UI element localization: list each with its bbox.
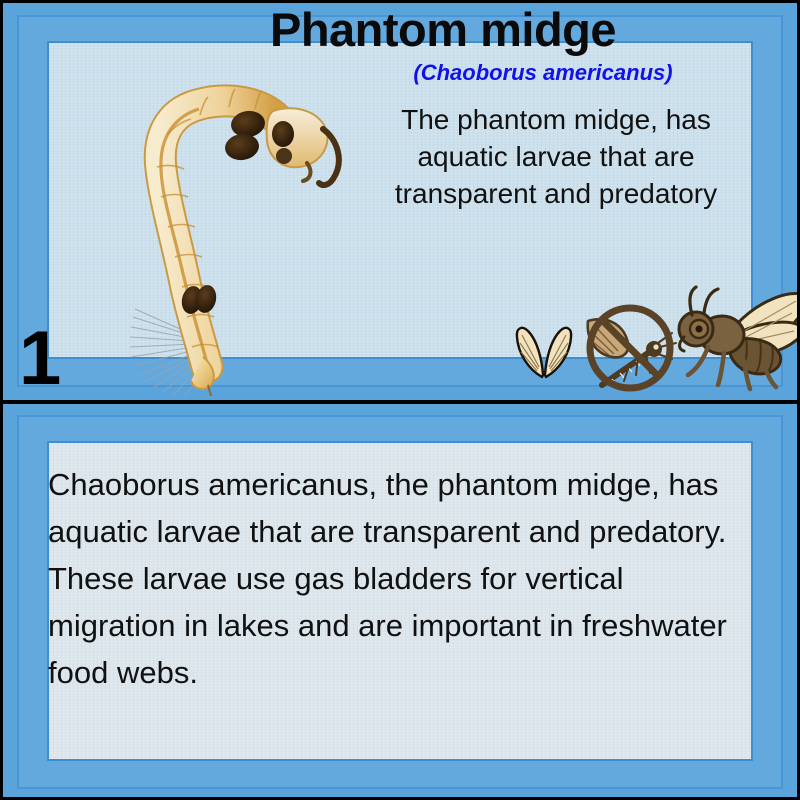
larva-eye — [272, 121, 294, 147]
top-panel: Phantom midge (Chaoborus americanus) The… — [3, 3, 797, 401]
larva-air-sac-anterior-2 — [223, 132, 260, 162]
midge-adult-icon — [666, 285, 800, 397]
bottom-panel: Chaoborus americanus, the phantom midge,… — [3, 403, 797, 800]
species-info-card: Phantom midge (Chaoborus americanus) The… — [0, 0, 800, 800]
panel-divider — [3, 400, 797, 404]
midge-proboscis — [680, 337, 685, 351]
card-number-badge: 1 — [19, 321, 61, 397]
description-text: Chaoborus americanus, the phantom midge,… — [48, 461, 754, 697]
larva-mouthpart-base — [276, 148, 292, 164]
scientific-name: (Chaoborus americanus) — [333, 60, 753, 86]
midge-larva-illustration — [61, 51, 351, 396]
summary-text: The phantom midge, has aquatic larvae th… — [386, 101, 726, 213]
page-title: Phantom midge — [183, 5, 703, 54]
wings-icon — [508, 315, 580, 385]
